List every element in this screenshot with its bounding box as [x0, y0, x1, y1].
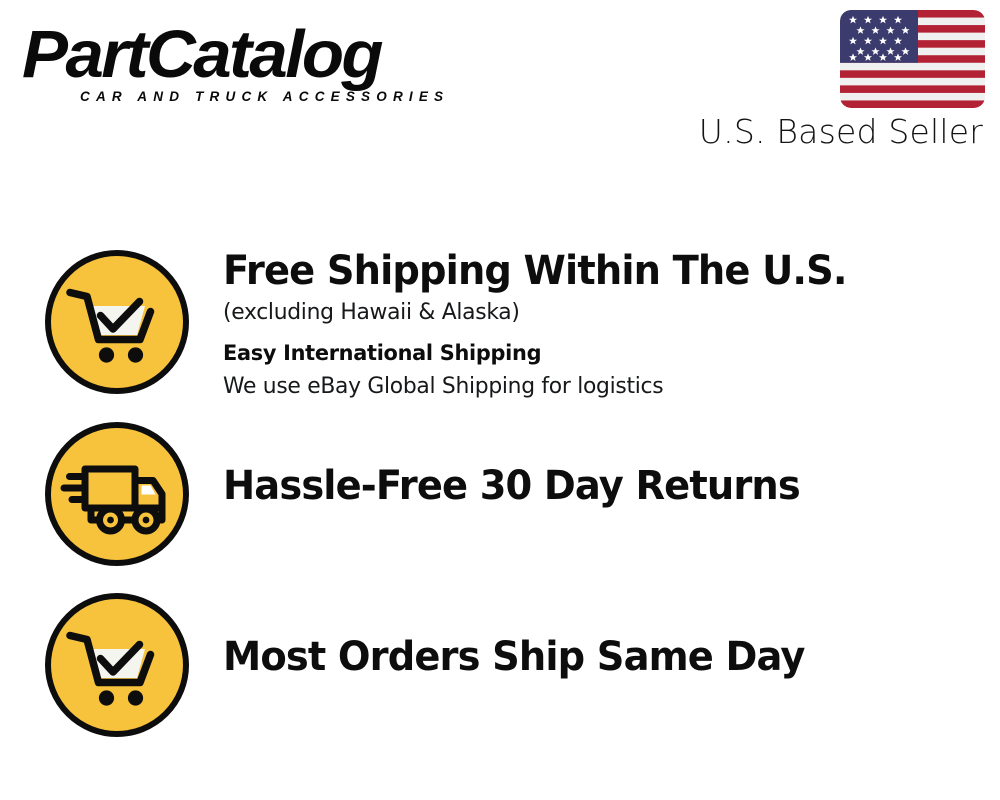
brand-logo[interactable]: PartCatalog CAR AND TRUCK ACCESSORIES — [22, 24, 492, 104]
us-flag-badge — [840, 10, 985, 108]
feature-row: Most Orders Ship Same Day — [0, 590, 1000, 740]
feature-badge — [42, 419, 192, 569]
feature-subheading: Easy International Shipping — [223, 341, 977, 368]
delivery-truck-icon — [42, 419, 192, 569]
shopping-cart-check-icon — [42, 590, 192, 740]
feature-heading: Free Shipping Within The U.S. — [223, 250, 969, 292]
feature-detail: We use eBay Global Shipping for logistic… — [223, 372, 977, 400]
feature-heading: Hassle-Free 30 Day Returns — [223, 465, 969, 507]
header: PartCatalog CAR AND TRUCK ACCESSORIES — [0, 0, 1000, 170]
us-based-seller-label: U.S. Based Seller — [699, 114, 983, 150]
shopping-cart-check-icon — [42, 247, 192, 397]
feature-badge — [42, 247, 192, 397]
feature-row: Hassle-Free 30 Day Returns — [0, 419, 1000, 569]
feature-badge — [42, 590, 192, 740]
feature-text-block: Hassle-Free 30 Day Returns — [223, 419, 1000, 507]
logo-wordmark: PartCatalog — [22, 24, 506, 86]
feature-text-block: Most Orders Ship Same Day — [223, 590, 1000, 678]
feature-subtext: (excluding Hawaii & Alaska) — [223, 298, 977, 326]
feature-heading: Most Orders Ship Same Day — [223, 636, 969, 678]
feature-row: Free Shipping Within The U.S. (excluding… — [0, 247, 1000, 401]
feature-text-block: Free Shipping Within The U.S. (excluding… — [223, 247, 1000, 401]
us-flag-icon — [840, 10, 985, 108]
